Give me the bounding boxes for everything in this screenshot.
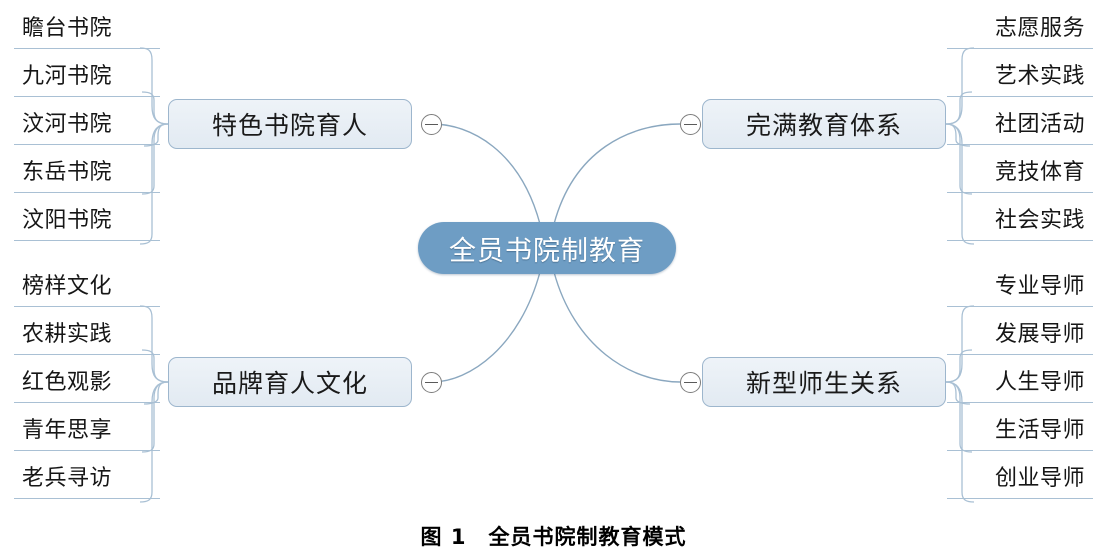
leaf-rule — [14, 96, 160, 97]
leaf-label: 人生导师 — [995, 364, 1085, 396]
leaf-rule — [14, 450, 160, 451]
leaf-label: 瞻台书院 — [22, 10, 112, 42]
leaf-label: 社团活动 — [995, 106, 1085, 138]
leaf-rule — [947, 354, 1093, 355]
leaf-label: 老兵寻访 — [22, 460, 112, 492]
figure-caption: 图 1 全员书院制教育模式 — [0, 521, 1107, 551]
leaf-rule — [947, 498, 1093, 499]
leaf-label: 社会实践 — [995, 202, 1085, 234]
collapse-minus-icon-bottom-right[interactable] — [680, 372, 701, 393]
branch-label: 新型师生关系 — [746, 364, 902, 400]
leaf-node-br-5[interactable]: 创业导师 — [951, 454, 1085, 498]
leaf-rule — [947, 240, 1093, 241]
branch-node-bottom-right[interactable]: 新型师生关系 — [702, 357, 946, 407]
wire-root-top-left — [432, 124, 540, 224]
wire-root-bottom-left — [432, 272, 540, 382]
leaf-node-bl-5[interactable]: 老兵寻访 — [22, 454, 156, 498]
leaf-label: 青年思享 — [22, 412, 112, 444]
leaf-node-tr-5[interactable]: 社会实践 — [951, 196, 1085, 240]
leaf-label: 艺术实践 — [995, 58, 1085, 90]
leaf-node-br-2[interactable]: 发展导师 — [951, 310, 1085, 354]
leaf-rule — [947, 144, 1093, 145]
wire-root-top-right — [554, 124, 680, 224]
collapse-minus-icon-bottom-left[interactable] — [421, 372, 442, 393]
leaf-node-tl-4[interactable]: 东岳书院 — [22, 148, 156, 192]
leaf-node-tr-2[interactable]: 艺术实践 — [951, 52, 1085, 96]
collapse-minus-icon-top-right[interactable] — [680, 114, 701, 135]
leaf-label: 东岳书院 — [22, 154, 112, 186]
leaf-node-bl-1[interactable]: 榜样文化 — [22, 262, 156, 306]
leaf-rule — [947, 96, 1093, 97]
leaf-node-br-4[interactable]: 生活导师 — [951, 406, 1085, 450]
leaf-node-br-1[interactable]: 专业导师 — [951, 262, 1085, 306]
branch-label: 完满教育体系 — [746, 106, 902, 142]
leaf-rule — [14, 144, 160, 145]
leaf-rule — [947, 306, 1093, 307]
collapse-minus-icon-top-left[interactable] — [421, 114, 442, 135]
leaf-label: 农耕实践 — [22, 316, 112, 348]
connector-lines — [0, 0, 1107, 556]
leaf-label: 竞技体育 — [995, 154, 1085, 186]
leaf-node-tr-3[interactable]: 社团活动 — [951, 100, 1085, 144]
branch-node-bottom-left[interactable]: 品牌育人文化 — [168, 357, 412, 407]
leaf-rule — [14, 306, 160, 307]
leaf-label: 汶阳书院 — [22, 202, 112, 234]
leaf-rule — [14, 354, 160, 355]
mindmap-figure: 瞻台书院 九河书院 汶河书院 东岳书院 汶阳书院 榜样文化 农耕实践 红色观影 … — [0, 0, 1107, 556]
leaf-label: 汶河书院 — [22, 106, 112, 138]
leaf-label: 红色观影 — [22, 364, 112, 396]
leaf-label: 生活导师 — [995, 412, 1085, 444]
leaf-label: 专业导师 — [995, 268, 1085, 300]
leaf-rule — [14, 48, 160, 49]
leaf-node-tl-3[interactable]: 汶河书院 — [22, 100, 156, 144]
leaf-node-tr-4[interactable]: 竞技体育 — [951, 148, 1085, 192]
leaf-rule — [14, 192, 160, 193]
leaf-rule — [947, 192, 1093, 193]
leaf-node-tr-1[interactable]: 志愿服务 — [951, 4, 1085, 48]
leaf-label: 志愿服务 — [995, 10, 1085, 42]
branch-label: 品牌育人文化 — [212, 364, 368, 400]
leaf-rule — [14, 498, 160, 499]
leaf-label: 发展导师 — [995, 316, 1085, 348]
leaf-rule — [947, 450, 1093, 451]
leaf-node-bl-4[interactable]: 青年思享 — [22, 406, 156, 450]
leaf-label: 九河书院 — [22, 58, 112, 90]
leaf-rule — [947, 48, 1093, 49]
leaf-rule — [14, 402, 160, 403]
branch-node-top-right[interactable]: 完满教育体系 — [702, 99, 946, 149]
leaf-node-bl-3[interactable]: 红色观影 — [22, 358, 156, 402]
leaf-node-tl-1[interactable]: 瞻台书院 — [22, 4, 156, 48]
leaf-node-tl-5[interactable]: 汶阳书院 — [22, 196, 156, 240]
leaf-label: 创业导师 — [995, 460, 1085, 492]
leaf-node-br-3[interactable]: 人生导师 — [951, 358, 1085, 402]
leaf-rule — [947, 402, 1093, 403]
branch-label: 特色书院育人 — [212, 106, 368, 142]
leaf-node-tl-2[interactable]: 九河书院 — [22, 52, 156, 96]
leaf-rule — [14, 240, 160, 241]
wire-root-bottom-right — [554, 272, 680, 382]
leaf-label: 榜样文化 — [22, 268, 112, 300]
root-label: 全员书院制教育 — [449, 229, 645, 268]
root-node[interactable]: 全员书院制教育 — [418, 222, 676, 274]
leaf-node-bl-2[interactable]: 农耕实践 — [22, 310, 156, 354]
branch-node-top-left[interactable]: 特色书院育人 — [168, 99, 412, 149]
